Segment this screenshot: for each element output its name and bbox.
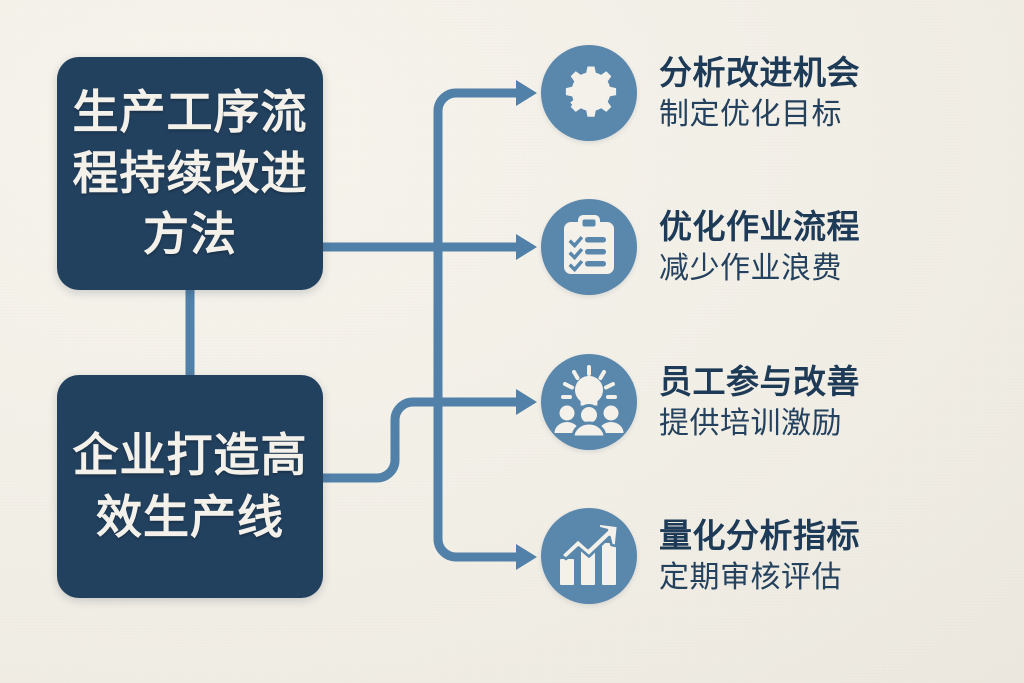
item-1-title: 分析改进机会 xyxy=(659,53,860,93)
item-employee-participation[interactable]: 员工参与改善 提供培训激励 xyxy=(541,354,860,450)
item-4-subtitle: 定期审核评估 xyxy=(659,559,860,597)
connector-box2-to-item3 xyxy=(323,402,516,478)
item-quantitative-metrics[interactable]: 量化分析指标 定期审核评估 xyxy=(541,508,860,604)
arrowhead-item2 xyxy=(516,234,537,260)
diagram-canvas: 生产工序流程持续改进方法 企业打造高效生产线 分析改进机会 制定优化目标 xyxy=(0,0,1024,683)
arrowhead-item1 xyxy=(516,80,537,106)
connector-main-trunk xyxy=(438,93,516,557)
arrowhead-item4 xyxy=(516,544,537,570)
gear-arrow-icon xyxy=(541,45,637,141)
production-process-improvement-box[interactable]: 生产工序流程持续改进方法 xyxy=(57,57,323,290)
item-optimize-work-process[interactable]: 优化作业流程 减少作业浪费 xyxy=(541,199,860,295)
item-2-title: 优化作业流程 xyxy=(659,207,860,247)
item-1-subtitle: 制定优化目标 xyxy=(659,96,860,134)
efficient-production-line-box[interactable]: 企业打造高效生产线 xyxy=(57,375,323,598)
arrowhead-item3 xyxy=(516,389,537,415)
lightbulb-people-icon xyxy=(541,354,637,450)
item-2-subtitle: 减少作业浪费 xyxy=(659,250,860,288)
item-2-text: 优化作业流程 减少作业浪费 xyxy=(659,207,860,288)
clipboard-checklist-icon xyxy=(541,199,637,295)
item-3-title: 员工参与改善 xyxy=(659,362,860,402)
box-1-label: 生产工序流程持续改进方法 xyxy=(57,82,323,266)
item-4-title: 量化分析指标 xyxy=(659,516,860,556)
box-2-label: 企业打造高效生产线 xyxy=(57,425,323,547)
bar-chart-arrow-icon xyxy=(541,508,637,604)
item-3-subtitle: 提供培训激励 xyxy=(659,405,860,443)
item-analyze-improvement-opportunities[interactable]: 分析改进机会 制定优化目标 xyxy=(541,45,860,141)
item-3-text: 员工参与改善 提供培训激励 xyxy=(659,362,860,443)
item-1-text: 分析改进机会 制定优化目标 xyxy=(659,53,860,134)
connector-arrowheads xyxy=(516,80,537,570)
item-4-text: 量化分析指标 定期审核评估 xyxy=(659,516,860,597)
